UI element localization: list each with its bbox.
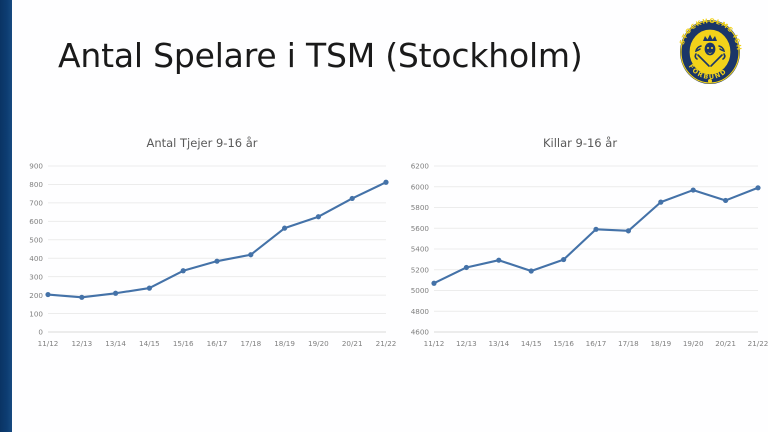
y-axis-tick-label: 800 — [29, 180, 43, 189]
x-axis-tick-label: 17/18 — [618, 339, 639, 348]
x-axis-tick-label: 13/14 — [105, 339, 126, 348]
x-axis-tick-label: 19/20 — [683, 339, 704, 348]
chart-title-killar: Killar 9-16 år — [392, 136, 768, 150]
y-axis-tick-label: 600 — [29, 217, 43, 226]
y-axis-tick-label: 500 — [29, 235, 43, 244]
plot-area-killar: 46004800500052005400560058006000620011/1… — [392, 158, 768, 362]
x-axis-tick-label: 12/13 — [71, 339, 92, 348]
y-axis-tick-label: 5000 — [411, 286, 430, 295]
series-data-point — [316, 214, 321, 219]
x-axis-tick-label: 13/14 — [488, 339, 509, 348]
x-axis-tick-label: 11/12 — [424, 339, 445, 348]
plot-area-tjejer: 010020030040050060070080090011/1212/1313… — [8, 158, 396, 362]
page-title: Antal Spelare i TSM (Stockholm) — [58, 36, 583, 75]
y-axis-tick-label: 900 — [29, 162, 43, 171]
y-axis-tick-label: 5400 — [411, 245, 430, 254]
chart-title-tjejer: Antal Tjejer 9-16 år — [8, 136, 396, 150]
x-axis-tick-label: 19/20 — [308, 339, 329, 348]
series-data-point — [755, 185, 760, 190]
x-axis-tick-label: 18/19 — [650, 339, 671, 348]
chart-antal-tjejer: Antal Tjejer 9-16 år 0100200300400500600… — [8, 130, 396, 362]
series-data-point — [464, 265, 469, 270]
series-data-point — [147, 286, 152, 291]
x-axis-tick-label: 21/22 — [748, 339, 768, 348]
series-data-point — [383, 180, 388, 185]
series-data-point — [45, 292, 50, 297]
chart-killar: Killar 9-16 år 4600480050005200540056005… — [392, 130, 768, 362]
x-axis-tick-label: 16/17 — [586, 339, 607, 348]
x-axis-tick-label: 17/18 — [240, 339, 261, 348]
y-axis-tick-label: 6200 — [411, 162, 430, 171]
series-line — [434, 188, 758, 283]
x-axis-tick-label: 16/17 — [207, 339, 228, 348]
x-axis-tick-label: 14/15 — [139, 339, 160, 348]
series-data-point — [181, 268, 186, 273]
y-axis-tick-label: 5200 — [411, 265, 430, 274]
y-axis-tick-label: 5800 — [411, 203, 430, 212]
x-axis-tick-label: 15/16 — [553, 339, 574, 348]
series-data-point — [282, 226, 287, 231]
series-data-point — [214, 259, 219, 264]
series-data-point — [561, 257, 566, 262]
series-data-point — [248, 252, 253, 257]
y-axis-tick-label: 200 — [29, 291, 43, 300]
y-axis-tick-label: 5600 — [411, 224, 430, 233]
series-data-point — [496, 258, 501, 263]
series-data-point — [626, 228, 631, 233]
y-axis-tick-label: 100 — [29, 309, 43, 318]
series-data-point — [529, 268, 534, 273]
series-data-point — [113, 291, 118, 296]
series-data-point — [658, 200, 663, 205]
y-axis-tick-label: 4600 — [411, 328, 430, 337]
y-axis-tick-label: 400 — [29, 254, 43, 263]
stockholms-ishockeyforbund-logo-icon: STOCKHOLMS ISHOCKEY FÖRBUND — [672, 10, 748, 90]
slide-canvas: Antal Spelare i TSM (Stockholm) STOCKHOL… — [0, 0, 768, 432]
x-axis-tick-label: 20/21 — [715, 339, 736, 348]
x-axis-tick-label: 18/19 — [274, 339, 295, 348]
series-data-point — [431, 281, 436, 286]
x-axis-tick-label: 20/21 — [342, 339, 363, 348]
y-axis-tick-label: 6000 — [411, 182, 430, 191]
series-data-point — [79, 295, 84, 300]
series-data-point — [691, 187, 696, 192]
y-axis-tick-label: 300 — [29, 272, 43, 281]
y-axis-tick-label: 700 — [29, 199, 43, 208]
x-axis-tick-label: 15/16 — [173, 339, 194, 348]
x-axis-tick-label: 14/15 — [521, 339, 542, 348]
y-axis-tick-label: 0 — [38, 328, 43, 337]
series-data-point — [593, 227, 598, 232]
series-data-point — [723, 198, 728, 203]
series-data-point — [350, 196, 355, 201]
y-axis-tick-label: 4800 — [411, 307, 430, 316]
x-axis-tick-label: 12/13 — [456, 339, 477, 348]
x-axis-tick-label: 11/12 — [38, 339, 59, 348]
